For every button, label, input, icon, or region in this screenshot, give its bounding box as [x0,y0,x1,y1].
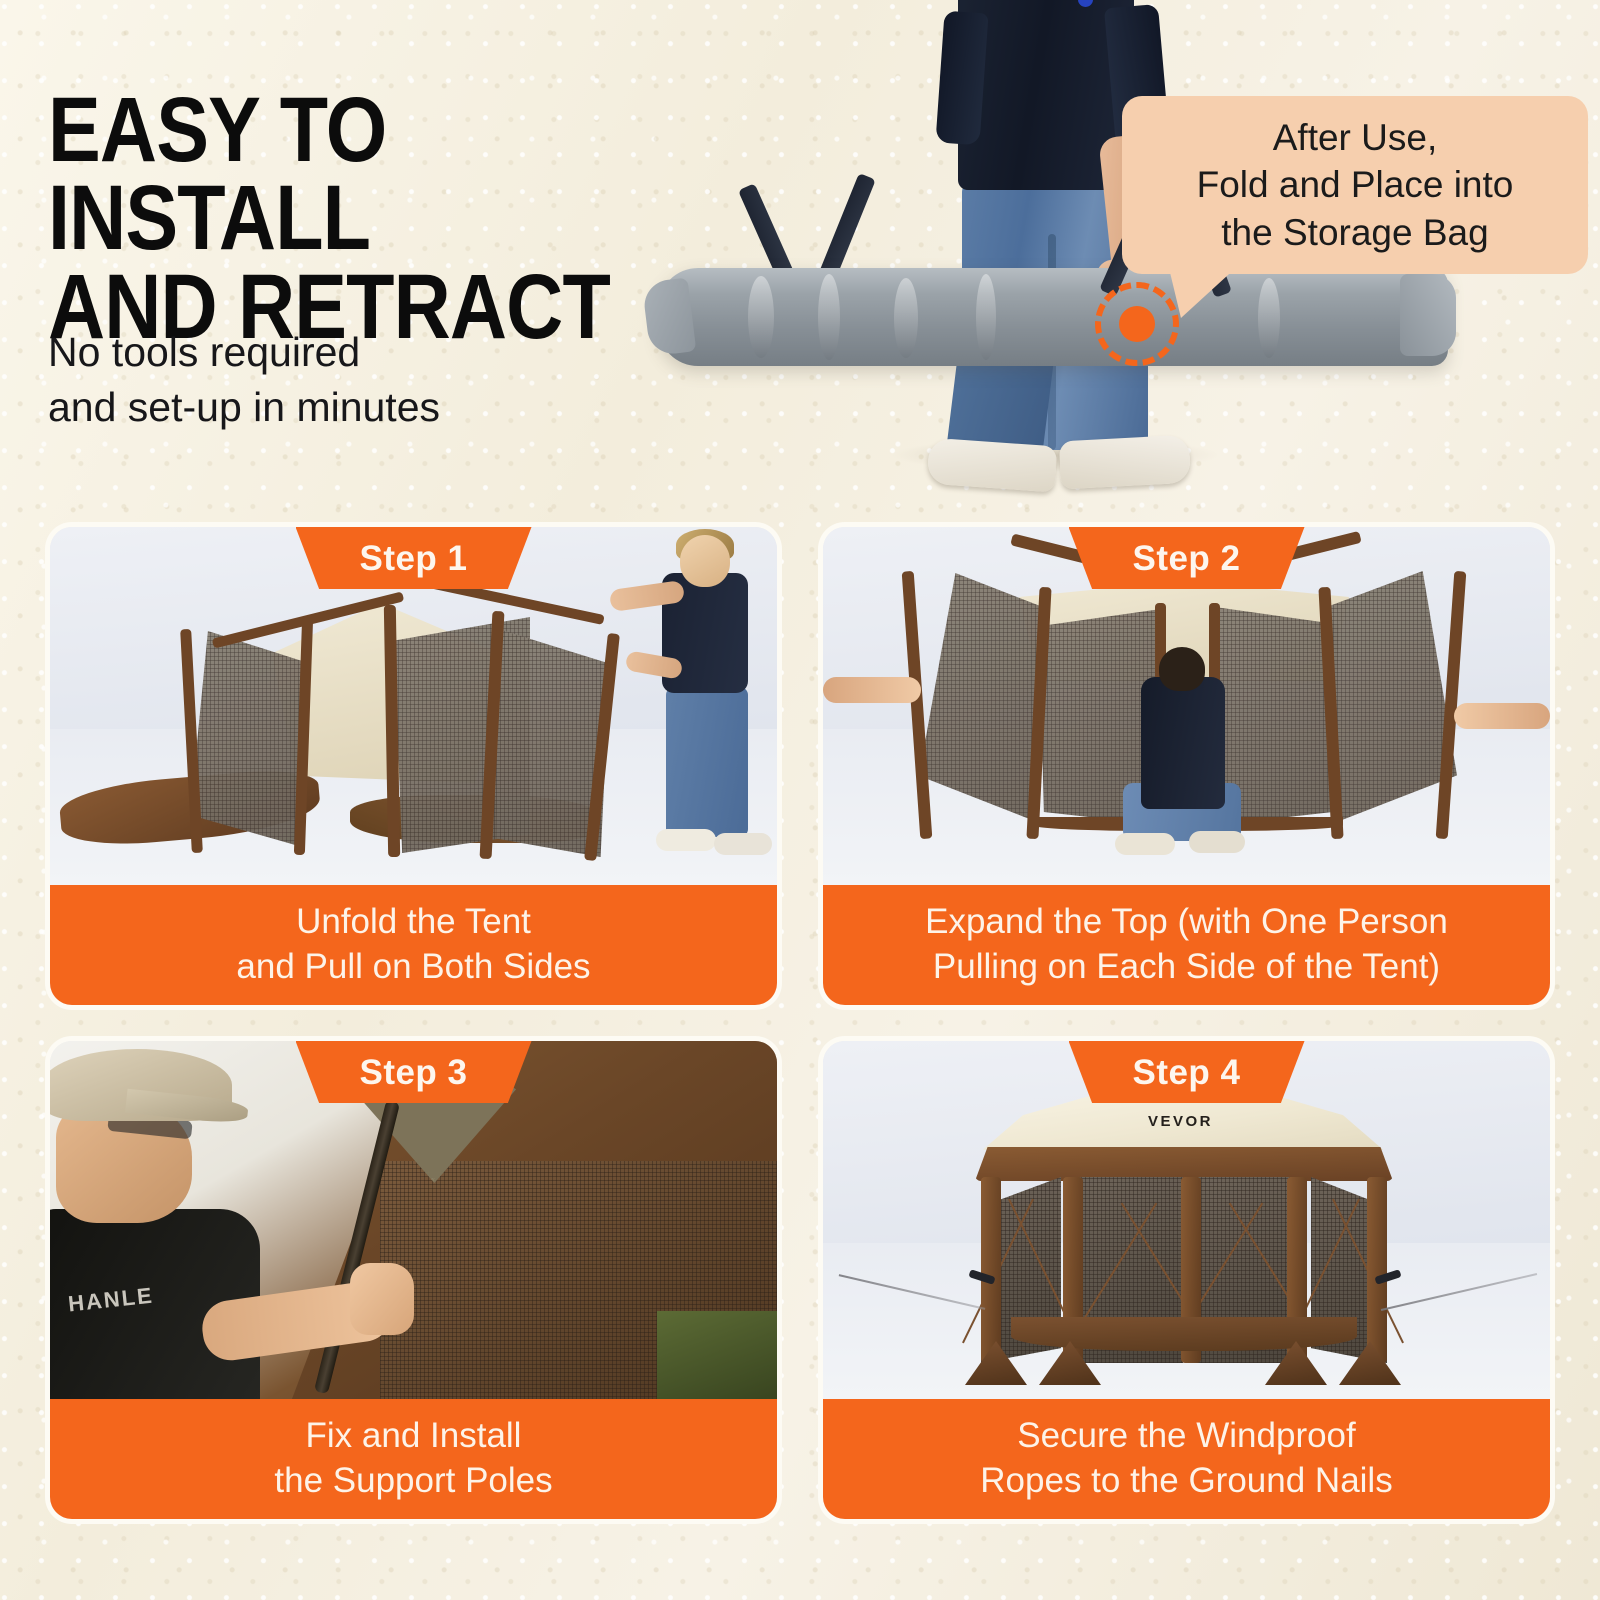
person-left-sleeve [935,11,988,146]
step-2-badge-label: Step 2 [1132,541,1240,576]
bag-fold [976,274,996,360]
step-1-caption: Unfold the Tent and Pull on Both Sides [50,885,777,1005]
step-card-3[interactable]: HANLE Step 3 Fix and Install the Support… [50,1041,777,1519]
subhead-line-1: No tools required [48,329,360,375]
callout-line-2: Fold and Place into [1197,161,1514,208]
tent-floor-band [1011,1317,1357,1351]
step-card-4[interactable]: VEVOR [823,1041,1550,1519]
step-4-caption: Secure the Windproof Ropes to the Ground… [823,1399,1550,1519]
step-1-caption-line-2: and Pull on Both Sides [236,945,590,990]
step-2-badge: Step 2 [1069,527,1305,589]
step-4-badge: Step 4 [1069,1041,1305,1103]
tent-leg [981,1177,1001,1363]
partially-unfolded-tent [180,587,610,849]
bag-fold [818,274,840,360]
storage-bag-callout-bubble: After Use, Fold and Place into the Stora… [1122,96,1588,274]
vevor-logo: VEVOR [1148,1113,1213,1130]
step-3-caption-line-1: Fix and Install [306,1414,522,1459]
bag-fold [1258,278,1280,358]
step-3-caption: Fix and Install the Support Poles [50,1399,777,1519]
person-left-shoe [927,438,1058,493]
step-4-caption-line-2: Ropes to the Ground Nails [980,1459,1392,1504]
step-3-badge-label: Step 3 [359,1055,467,1090]
bag-fold [748,276,774,358]
person-right-shoe [1059,435,1191,490]
steps-grid: Step 1 Unfold the Tent and Pull on Both … [50,527,1550,1557]
person-shoe [1189,831,1245,853]
step-3-caption-line-2: the Support Poles [274,1459,552,1504]
grass-patch [657,1311,777,1401]
storage-point-marker-icon [1095,282,1179,366]
person-torso [1141,677,1225,809]
person-shoe [656,829,716,851]
person-head [1159,647,1205,691]
page-subheadline: No tools required and set-up in minutes [48,325,668,436]
page-headline: EASY TO INSTALL AND RETRACT [48,86,702,351]
tent-eave [975,1147,1393,1181]
helper-hand-right [1454,703,1550,729]
header-section: EASY TO INSTALL AND RETRACT No tools req… [0,0,1600,520]
marker-dot [1119,306,1155,342]
step-2-caption-line-2: Pulling on Each Side of the Tent) [933,945,1440,990]
callout-text: After Use, Fold and Place into the Stora… [1197,114,1514,256]
step-2-caption-line-1: Expand the Top (with One Person [925,900,1448,945]
tent-leg [1367,1177,1387,1363]
callout-line-3: the Storage Bag [1197,209,1514,256]
step-1-caption-line-1: Unfold the Tent [296,900,531,945]
callout-line-1: After Use, [1197,114,1514,161]
bag-fold [894,278,918,358]
step-card-2[interactable]: Step 2 Expand the Top (with One Person P… [823,527,1550,1005]
person-legs [666,687,748,837]
helper-hand-left [823,677,921,703]
person-head [680,535,730,587]
bag-body [658,268,1448,366]
step-1-badge: Step 1 [296,527,532,589]
person-shoe [714,833,772,855]
tent-mesh-panel [190,631,302,845]
step-4-badge-label: Step 4 [1132,1055,1240,1090]
headline-line-1: EASY TO INSTALL [48,79,386,269]
step-4-caption-line-1: Secure the Windproof [1017,1414,1356,1459]
step-1-badge-label: Step 1 [359,541,467,576]
step-3-badge: Step 3 [296,1041,532,1103]
person-shoe [1115,833,1175,855]
step-card-1[interactable]: Step 1 Unfold the Tent and Pull on Both … [50,527,777,1005]
step-2-caption: Expand the Top (with One Person Pulling … [823,885,1550,1005]
subhead-line-2: and set-up in minutes [48,380,668,435]
person-hand-gripping-pole [350,1263,414,1335]
